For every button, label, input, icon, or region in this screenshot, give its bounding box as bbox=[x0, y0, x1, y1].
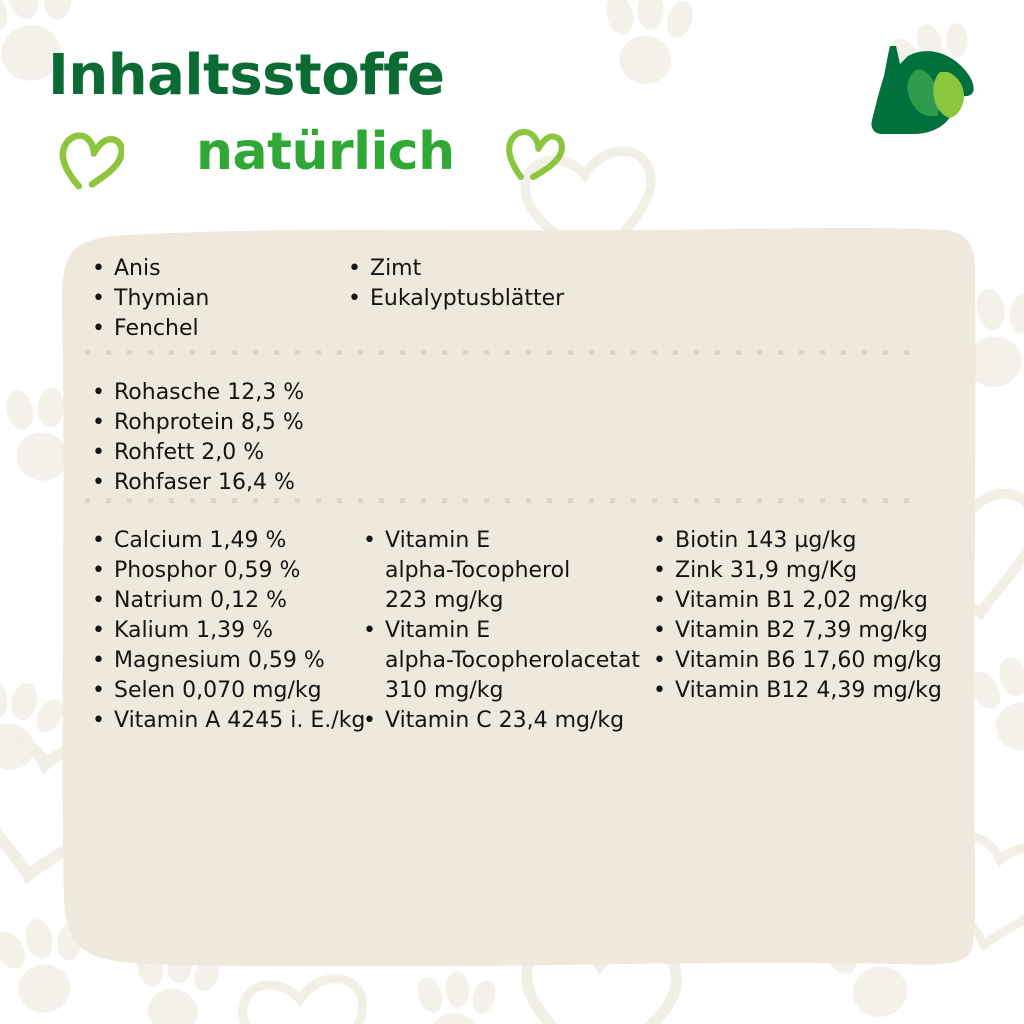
list-item: Vitamin E alpha-Tocopherolacetat 310 mg/… bbox=[355, 616, 655, 706]
list-item: Kalium 1,39 % bbox=[84, 616, 374, 646]
page-title-secondary: natürlich bbox=[196, 126, 455, 178]
poster-canvas: Inhaltsstoffe natürlich Anis Thymian Fe bbox=[0, 0, 1024, 1024]
additives-column-1: Calcium 1,49 % Phosphor 0,59 % Natrium 0… bbox=[84, 526, 374, 736]
analysis-column-1: Rohasche 12,3 % Rohprotein 8,5 % Rohfett… bbox=[84, 378, 484, 498]
list-item: Vitamin C 23,4 mg/kg bbox=[355, 706, 655, 736]
list-item: Phosphor 0,59 % bbox=[84, 556, 374, 586]
list-item: Calcium 1,49 % bbox=[84, 526, 374, 556]
herbs-list-2: Zimt Eukalyptusblätter bbox=[340, 254, 670, 314]
additives-column-2: Vitamin E alpha-Tocopherol 223 mg/kg Vit… bbox=[355, 526, 655, 736]
list-item: Fenchel bbox=[84, 314, 334, 344]
list-item: Natrium 0,12 % bbox=[84, 586, 374, 616]
herbs-column-2: Zimt Eukalyptusblätter bbox=[340, 254, 670, 314]
list-item: Anis bbox=[84, 254, 334, 284]
list-item: Vitamin B12 4,39 mg/kg bbox=[645, 676, 965, 706]
additives-list-3: Biotin 143 µg/kg Zink 31,9 mg/Kg Vitamin… bbox=[645, 526, 965, 706]
list-item: Rohasche 12,3 % bbox=[84, 378, 484, 408]
additives-list-1: Calcium 1,49 % Phosphor 0,59 % Natrium 0… bbox=[84, 526, 374, 736]
additives-list-2: Vitamin E alpha-Tocopherol 223 mg/kg Vit… bbox=[355, 526, 655, 736]
list-item: Rohprotein 8,5 % bbox=[84, 408, 484, 438]
brand-logo-horse-head-icon bbox=[860, 42, 982, 138]
section-separator-2 bbox=[85, 498, 911, 503]
list-item: Vitamin A 4245 i. E./kg bbox=[84, 706, 374, 736]
heart-icon-left bbox=[58, 128, 124, 190]
section-separator-1 bbox=[85, 350, 911, 355]
list-item: Vitamin E alpha-Tocopherol 223 mg/kg bbox=[355, 526, 655, 616]
heart-icon-right bbox=[503, 126, 565, 184]
list-item: Thymian bbox=[84, 284, 334, 314]
card-content: Anis Thymian Fenchel Zimt Eukalyptusblät… bbox=[0, 232, 1024, 972]
list-item: Eukalyptusblätter bbox=[340, 284, 670, 314]
list-item: Zink 31,9 mg/Kg bbox=[645, 556, 965, 586]
list-item: Vitamin B2 7,39 mg/kg bbox=[645, 616, 965, 646]
herbs-list-1: Anis Thymian Fenchel bbox=[84, 254, 334, 344]
list-item: Zimt bbox=[340, 254, 670, 284]
list-item: Vitamin B6 17,60 mg/kg bbox=[645, 646, 965, 676]
list-item: Selen 0,070 mg/kg bbox=[84, 676, 374, 706]
additives-column-3: Biotin 143 µg/kg Zink 31,9 mg/Kg Vitamin… bbox=[645, 526, 965, 706]
analysis-list: Rohasche 12,3 % Rohprotein 8,5 % Rohfett… bbox=[84, 378, 484, 498]
list-item: Magnesium 0,59 % bbox=[84, 646, 374, 676]
list-item: Rohfaser 16,4 % bbox=[84, 468, 484, 498]
page-title-primary: Inhaltsstoffe bbox=[48, 48, 444, 104]
list-item: Rohfett 2,0 % bbox=[84, 438, 484, 468]
list-item: Vitamin B1 2,02 mg/kg bbox=[645, 586, 965, 616]
herbs-column-1: Anis Thymian Fenchel bbox=[84, 254, 334, 344]
list-item: Biotin 143 µg/kg bbox=[645, 526, 965, 556]
header: Inhaltsstoffe natürlich bbox=[0, 0, 1024, 215]
